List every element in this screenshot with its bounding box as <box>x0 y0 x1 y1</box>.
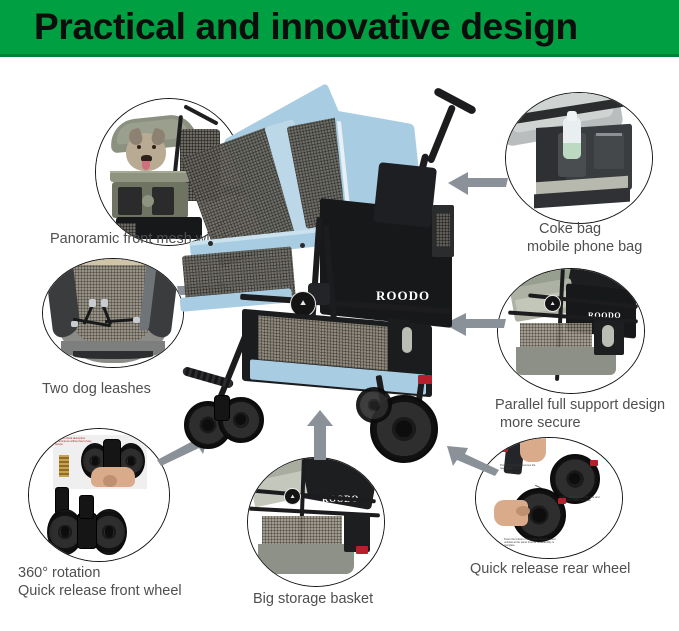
caption-two-dog-leashes: Two dog leashes <box>42 381 151 398</box>
header-banner: Practical and innovative design <box>0 0 679 57</box>
caption-front-wheel-line2: Quick release front wheel <box>18 583 182 600</box>
caption-parallel-support-line1: Parallel full support design <box>495 397 665 414</box>
caption-coke-bag-line1: Coke bag <box>539 221 601 238</box>
infographic-page: Practical and innovative design <box>0 0 679 631</box>
caption-coke-bag-line2: mobile phone bag <box>527 239 642 256</box>
caption-rear-wheel: Quick release rear wheel <box>470 561 630 578</box>
roodo-logo-badge-basket: ⛰ <box>284 488 301 505</box>
page-title: Practical and innovative design <box>0 6 578 48</box>
two-dog-leashes-photo <box>42 258 184 368</box>
caption-parallel-support-line2: more secure <box>500 415 581 432</box>
caption-storage-basket: Big storage basket <box>253 591 373 608</box>
caption-front-wheel-line1: 360° rotation <box>18 565 100 582</box>
roodo-logo-badge: ⛰ <box>544 295 561 312</box>
coke-bag-photo <box>505 92 653 224</box>
front-wheel-photo: Superior shock absorption performance wi… <box>28 428 170 562</box>
product-main-image: ROODO ⛰ <box>180 95 480 455</box>
parallel-support-photo: ROODO ⛰ <box>497 268 645 394</box>
storage-basket-photo: ROODO ⛰ <box>247 457 385 587</box>
